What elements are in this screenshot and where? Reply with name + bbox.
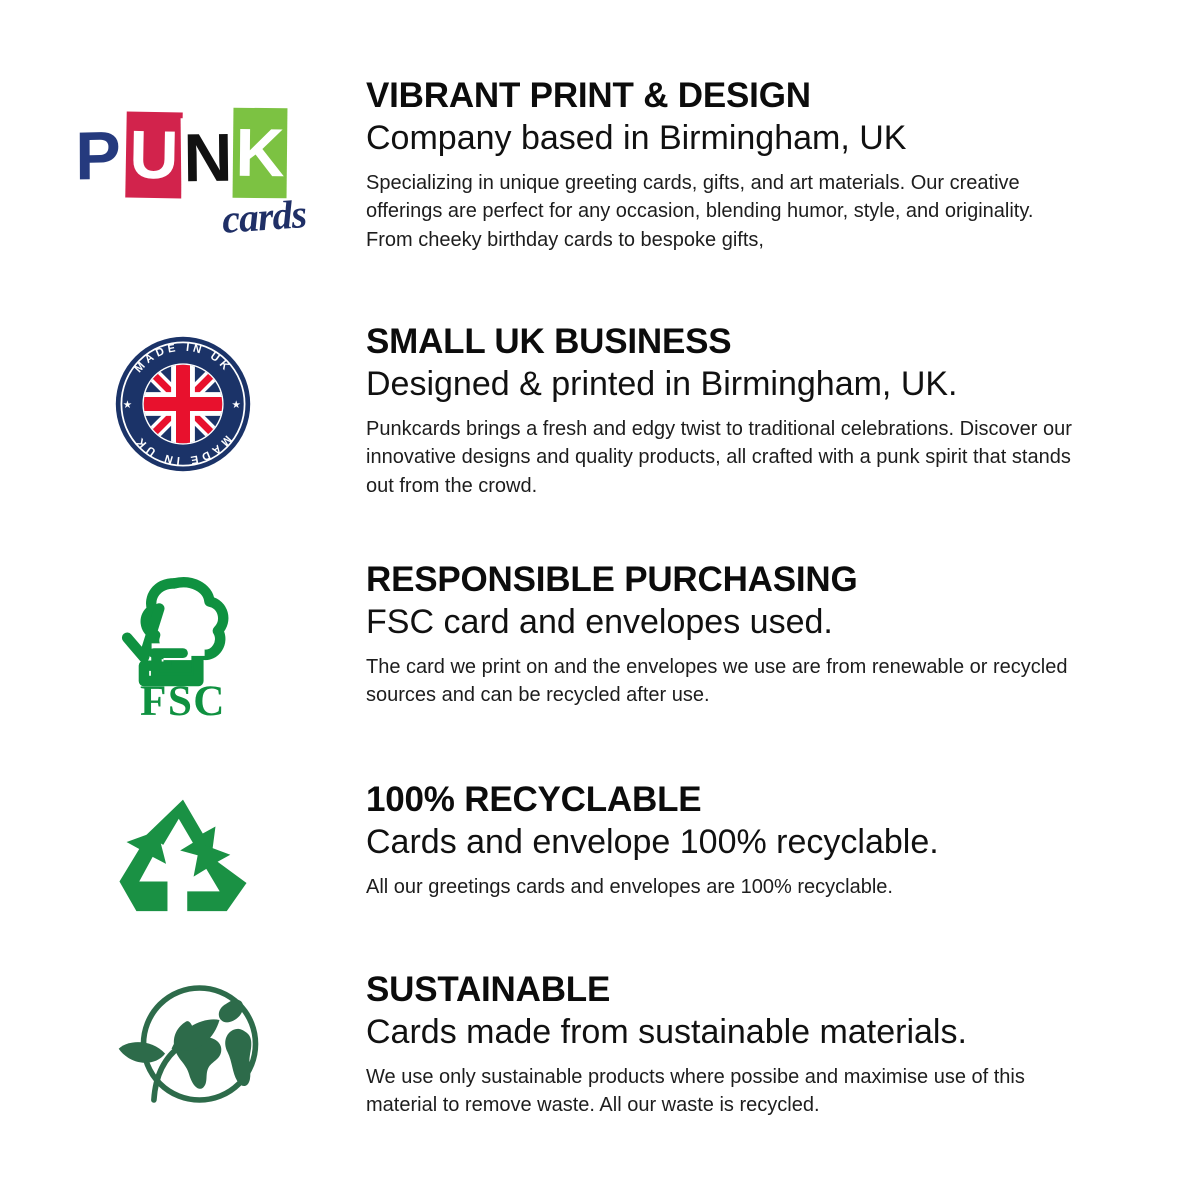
feature-body: All our greetings cards and envelopes ar… — [366, 873, 1082, 901]
feature-icon-cell — [0, 972, 366, 1108]
feature-title: SMALL UK BUSINESS — [366, 324, 1086, 361]
feature-body: The card we print on and the envelopes w… — [366, 653, 1082, 710]
recycle-mobius-icon — [108, 794, 258, 914]
feature-row: 100% RECYCLABLE Cards and envelope 100% … — [0, 782, 1200, 914]
uk-badge-star-left: ★ — [123, 399, 133, 411]
punk-letter-k: K — [233, 108, 288, 199]
feature-subtitle: FSC card and envelopes used. — [366, 603, 1086, 641]
feature-body: Punkcards brings a fresh and edgy twist … — [366, 415, 1082, 500]
fsc-tree-checkmark-icon: FSC — [113, 568, 253, 718]
punk-cards-script-word: cards — [221, 190, 308, 243]
punk-letter-blocks: P U N K — [70, 108, 287, 198]
feature-title: SUSTAINABLE — [366, 972, 1086, 1009]
feature-row: P U N K cards VIBRANT PRINT & DESIGN Com… — [0, 78, 1200, 254]
feature-icon-cell: P U N K cards — [0, 78, 366, 226]
fsc-wordmark: FSC — [140, 677, 226, 718]
punk-letter-n: N — [181, 118, 236, 199]
feature-body: We use only sustainable products where p… — [366, 1063, 1082, 1120]
feature-body: Specializing in unique greeting cards, g… — [366, 169, 1082, 254]
features-page: P U N K cards VIBRANT PRINT & DESIGN Com… — [0, 0, 1200, 1200]
feature-row: FSC RESPONSIBLE PURCHASING FSC card and … — [0, 562, 1200, 718]
feature-row: SUSTAINABLE Cards made from sustainable … — [0, 972, 1200, 1120]
feature-icon-cell: FSC — [0, 562, 366, 718]
feature-icon-cell — [0, 782, 366, 914]
feature-row: MADE IN UK MADE IN UK ★ ★ SMALL UK BUSIN… — [0, 324, 1200, 500]
punkcards-logo-icon: P U N K cards — [70, 108, 302, 226]
feature-text-cell: 100% RECYCLABLE Cards and envelope 100% … — [366, 782, 1096, 901]
punk-letter-u: U — [125, 112, 182, 199]
made-in-uk-badge-icon: MADE IN UK MADE IN UK ★ ★ — [113, 334, 253, 474]
feature-title: VIBRANT PRINT & DESIGN — [366, 78, 1086, 115]
feature-text-cell: SUSTAINABLE Cards made from sustainable … — [366, 972, 1096, 1120]
feature-title: RESPONSIBLE PURCHASING — [366, 562, 1086, 599]
feature-subtitle: Designed & printed in Birmingham, UK. — [366, 365, 1086, 403]
punk-letter-p: P — [70, 113, 126, 198]
feature-text-cell: RESPONSIBLE PURCHASING FSC card and enve… — [366, 562, 1096, 710]
feature-icon-cell: MADE IN UK MADE IN UK ★ ★ — [0, 324, 366, 474]
feature-subtitle: Cards made from sustainable materials. — [366, 1013, 1086, 1051]
feature-text-cell: SMALL UK BUSINESS Designed & printed in … — [366, 324, 1096, 500]
sustainable-globe-icon — [91, 980, 276, 1108]
feature-subtitle: Cards and envelope 100% recyclable. — [366, 823, 1086, 861]
uk-badge-star-right: ★ — [231, 399, 241, 411]
feature-text-cell: VIBRANT PRINT & DESIGN Company based in … — [366, 78, 1096, 254]
feature-subtitle: Company based in Birmingham, UK — [366, 119, 1086, 157]
feature-title: 100% RECYCLABLE — [366, 782, 1086, 819]
